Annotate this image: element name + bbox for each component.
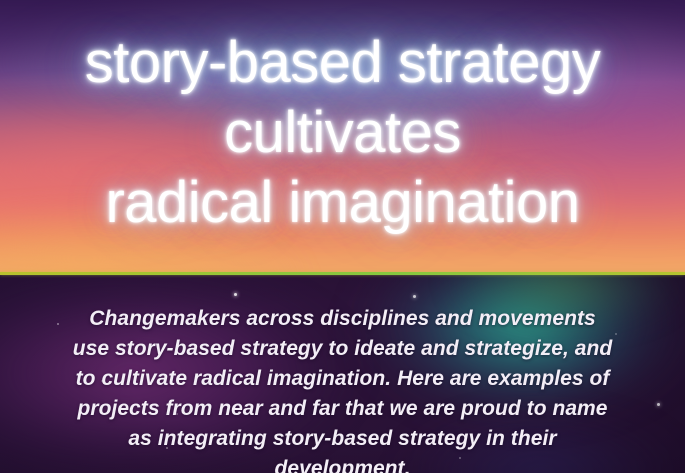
- intro-section: Changemakers across disciplines and move…: [0, 275, 685, 473]
- hero-section: story-based strategy cultivates radical …: [0, 0, 685, 273]
- headline-line-2: cultivates: [85, 98, 600, 168]
- intro-paragraph: Changemakers across disciplines and move…: [73, 304, 613, 473]
- hero-content: story-based strategy cultivates radical …: [0, 0, 685, 273]
- headline-line-1: story-based strategy: [85, 28, 600, 98]
- headline-line-3: radical imagination: [85, 168, 600, 238]
- hero-headline: story-based strategy cultivates radical …: [85, 28, 600, 238]
- intro-content: Changemakers across disciplines and move…: [0, 275, 685, 473]
- section-divider-line: [0, 272, 685, 275]
- page-root: story-based strategy cultivates radical …: [0, 0, 685, 473]
